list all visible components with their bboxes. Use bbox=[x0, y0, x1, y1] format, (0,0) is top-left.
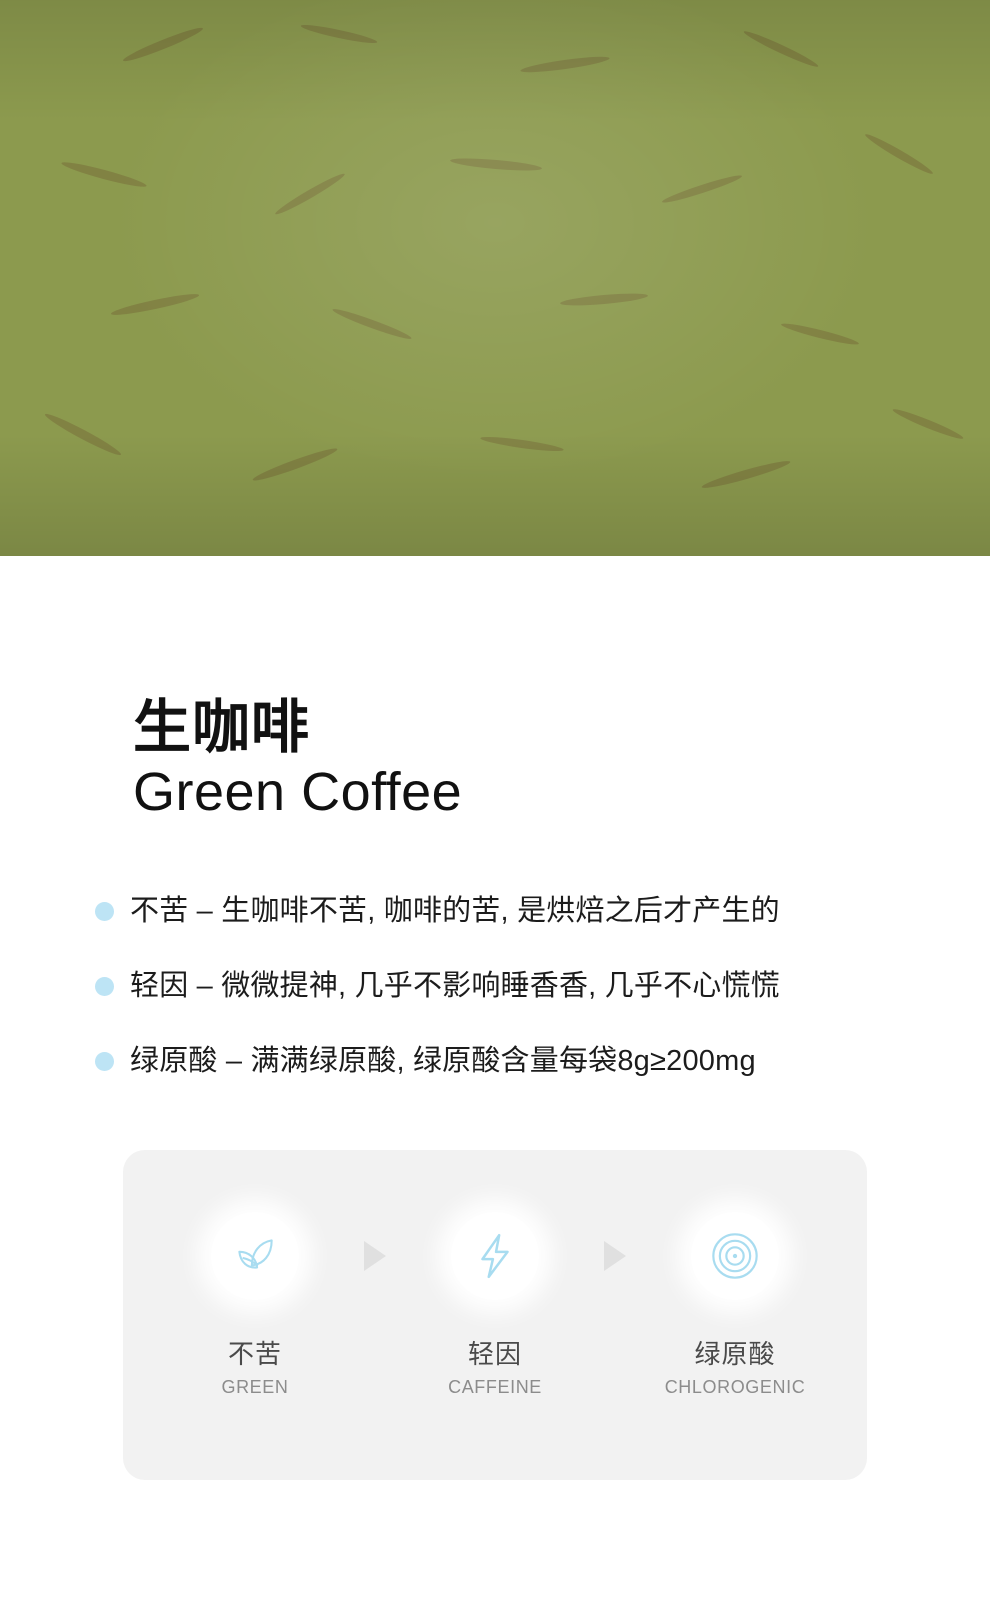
page-title-en: Green Coffee bbox=[133, 761, 990, 825]
page-title-cn: 生咖啡 bbox=[133, 698, 990, 757]
hero-vignette bbox=[0, 0, 990, 556]
benefit-label-cn: 不苦 bbox=[228, 1334, 282, 1371]
feature-text: 轻因 – 微微提神, 几乎不影响睡香香, 几乎不心慌慌 bbox=[130, 968, 780, 1005]
hero-image bbox=[0, 0, 990, 556]
triangle-right-icon bbox=[604, 1241, 626, 1271]
benefit-item-green: 不苦 GREEN bbox=[162, 1212, 348, 1398]
list-item: 轻因 – 微微提神, 几乎不影响睡香香, 几乎不心慌慌 bbox=[95, 968, 990, 1005]
bullet-dot-icon bbox=[95, 902, 114, 921]
bullet-dot-icon bbox=[95, 1052, 114, 1071]
list-item: 不苦 – 生咖啡不苦, 咖啡的苦, 是烘焙之后才产生的 bbox=[95, 893, 990, 930]
list-item: 绿原酸 – 满满绿原酸, 绿原酸含量每袋8g≥200mg bbox=[95, 1043, 990, 1080]
lightning-bolt-icon bbox=[451, 1212, 539, 1300]
triangle-right-icon bbox=[364, 1241, 386, 1271]
benefit-item-caffeine: 轻因 CAFFEINE bbox=[402, 1212, 588, 1398]
benefit-item-chlorogenic: 绿原酸 CHLOROGENIC bbox=[642, 1212, 828, 1398]
benefit-label-en: CHLOROGENIC bbox=[665, 1377, 806, 1398]
benefit-label-cn: 绿原酸 bbox=[694, 1334, 775, 1371]
benefits-card: 不苦 GREEN 轻因 CAFFEINE bbox=[123, 1150, 867, 1480]
benefits-row: 不苦 GREEN 轻因 CAFFEINE bbox=[123, 1150, 867, 1398]
benefit-label-en: GREEN bbox=[221, 1377, 288, 1398]
arrow-separator bbox=[348, 1212, 402, 1300]
feature-list: 不苦 – 生咖啡不苦, 咖啡的苦, 是烘焙之后才产生的 轻因 – 微微提神, 几… bbox=[0, 893, 990, 1080]
concentric-circles-target-icon bbox=[691, 1212, 779, 1300]
feature-text: 绿原酸 – 满满绿原酸, 绿原酸含量每袋8g≥200mg bbox=[130, 1043, 756, 1080]
title-block: 生咖啡 Green Coffee bbox=[0, 698, 990, 825]
arrow-separator bbox=[588, 1212, 642, 1300]
bullet-dot-icon bbox=[95, 977, 114, 996]
leaf-icon bbox=[211, 1212, 299, 1300]
benefit-label-en: CAFFEINE bbox=[448, 1377, 542, 1398]
benefit-label-cn: 轻因 bbox=[468, 1334, 522, 1371]
feature-text: 不苦 – 生咖啡不苦, 咖啡的苦, 是烘焙之后才产生的 bbox=[130, 893, 780, 930]
product-detail-content: 生咖啡 Green Coffee 不苦 – 生咖啡不苦, 咖啡的苦, 是烘焙之后… bbox=[0, 698, 990, 1480]
